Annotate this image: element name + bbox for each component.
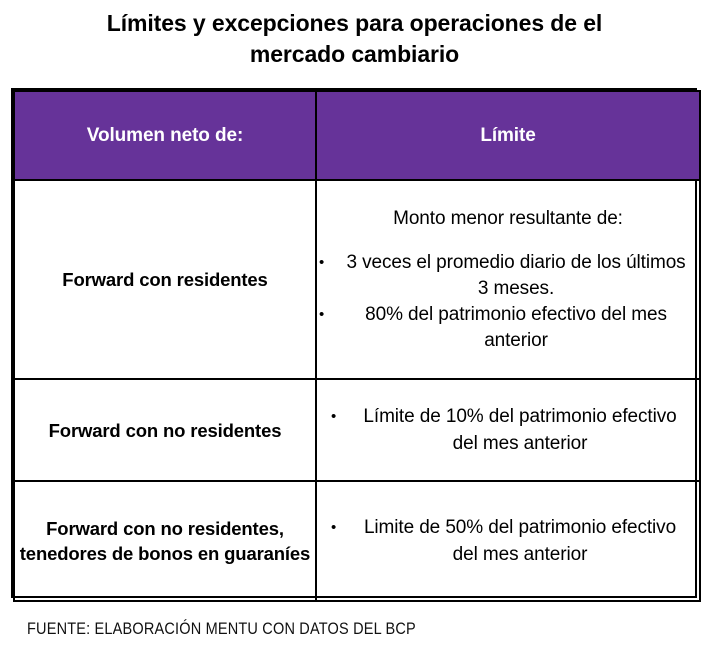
table-row: Forward con residentes Monto menor resul… xyxy=(14,180,700,379)
page-title: Límites y excepciones para operaciones d… xyxy=(0,8,709,70)
row-label-forward-no-residentes-bonos: Forward con no residentes, tenedores de … xyxy=(14,481,316,601)
table-row: Forward con no residentes, tenedores de … xyxy=(14,481,700,601)
limits-table-container: Volumen neto de: Límite Forward con resi… xyxy=(11,88,697,598)
row-limit-forward-no-residentes: Límite de 10% del patrimonio efectivo de… xyxy=(316,379,700,481)
row-label-forward-no-residentes: Forward con no residentes xyxy=(14,379,316,481)
row-1-bullet-list: 3 veces el promedio diario de los último… xyxy=(317,250,699,354)
row-label-forward-residentes: Forward con residentes xyxy=(14,180,316,379)
row-1-lead-text: Monto menor resultante de: xyxy=(317,206,699,232)
table-header-volumen: Volumen neto de: xyxy=(14,91,316,180)
limits-table: Volumen neto de: Límite Forward con resi… xyxy=(13,90,701,602)
list-item: Límite de 10% del patrimonio efectivo de… xyxy=(317,403,699,457)
table-header-limite: Límite xyxy=(316,91,700,180)
row-limit-forward-residentes: Monto menor resultante de: 3 veces el pr… xyxy=(316,180,700,379)
page-title-line-1: Límites y excepciones para operaciones d… xyxy=(0,8,709,39)
list-item: Limite de 50% del patrimonio efectivo de… xyxy=(317,514,699,568)
list-item: 80% del patrimonio efectivo del mes ante… xyxy=(317,302,699,354)
page-title-line-2: mercado cambiario xyxy=(0,39,709,70)
table-row: Forward con no residentes Límite de 10% … xyxy=(14,379,700,481)
table-header-row: Volumen neto de: Límite xyxy=(14,91,700,180)
list-item: 3 veces el promedio diario de los último… xyxy=(317,250,699,302)
source-note: FUENTE: ELABORACIÓN MENTU CON DATOS DEL … xyxy=(27,620,416,639)
row-limit-forward-no-residentes-bonos: Limite de 50% del patrimonio efectivo de… xyxy=(316,481,700,601)
